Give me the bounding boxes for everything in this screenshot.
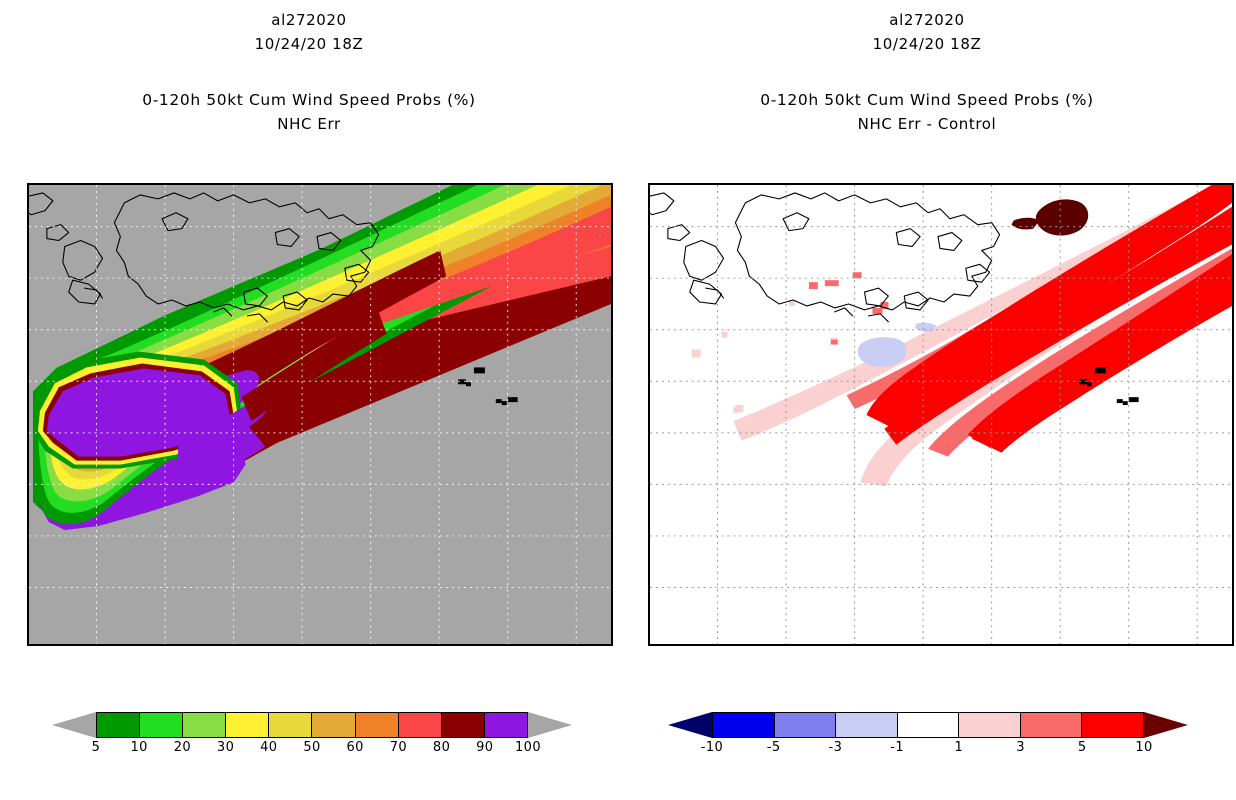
left-colorbar-cell-5 xyxy=(97,713,140,737)
panel-left: al272020 10/24/20 18Z 0-120h 50kt Cum Wi… xyxy=(0,0,618,800)
right-colorbar-cell-neg1 xyxy=(898,713,960,737)
left-colorbar-ticklabels: 5 10 20 30 40 50 60 70 80 90 100 xyxy=(96,740,528,760)
right-cb-tick-neg1: -1 xyxy=(890,740,904,755)
left-colorbar-cell-30 xyxy=(226,713,269,737)
left-colorbar-cell-20 xyxy=(183,713,226,737)
right-cb-tick-10: 10 xyxy=(1135,740,1152,755)
right-colorbar-over-arrow xyxy=(1144,712,1188,738)
left-cb-tick-90: 90 xyxy=(476,740,493,755)
left-cb-tick-20: 20 xyxy=(174,740,191,755)
left-source-label: NHC Err xyxy=(0,112,618,136)
right-colorbar-ticklabels: -10 -5 -3 -1 1 3 5 10 xyxy=(712,740,1144,760)
right-colorbar-cell-1 xyxy=(959,713,1021,737)
right-cb-tick-neg10: -10 xyxy=(701,740,723,755)
left-colorbar-under-arrow xyxy=(52,712,96,738)
left-cb-tick-100: 100 xyxy=(515,740,541,755)
left-cb-tick-50: 50 xyxy=(303,740,320,755)
right-cb-tick-neg3: -3 xyxy=(829,740,843,755)
left-product-title: 0-120h 50kt Cum Wind Speed Probs (%) xyxy=(0,88,618,112)
left-cb-tick-40: 40 xyxy=(260,740,277,755)
left-colorbar-bar xyxy=(52,712,572,738)
left-map-canvas xyxy=(29,185,611,644)
right-map-plot[interactable]: 48N 45N 42N 39N 36N 33N 30N 27N 24N 60W … xyxy=(648,183,1234,646)
left-colorbar-cell-60 xyxy=(356,713,399,737)
left-colorbar-cell-50 xyxy=(312,713,355,737)
left-datetime: 10/24/20 18Z xyxy=(0,32,618,56)
right-gridlines xyxy=(650,185,1232,644)
right-colorbar[interactable]: -10 -5 -3 -1 1 3 5 10 xyxy=(668,712,1188,772)
left-gridlines xyxy=(29,185,611,644)
right-colorbar-cells xyxy=(712,712,1144,738)
right-source-label: NHC Err - Control xyxy=(618,112,1236,136)
right-storm-id: al272020 xyxy=(618,8,1236,32)
right-cb-tick-1: 1 xyxy=(955,740,964,755)
left-cb-tick-5: 5 xyxy=(92,740,101,755)
left-colorbar-cell-70 xyxy=(399,713,442,737)
right-map-canvas xyxy=(650,185,1232,644)
right-cb-tick-3: 3 xyxy=(1016,740,1025,755)
right-colorbar-cell-neg3 xyxy=(836,713,898,737)
left-colorbar-cell-10 xyxy=(140,713,183,737)
left-cb-tick-10: 10 xyxy=(131,740,148,755)
left-cb-tick-80: 80 xyxy=(433,740,450,755)
panel-right: al272020 10/24/20 18Z 0-120h 50kt Cum Wi… xyxy=(618,0,1236,800)
left-colorbar-over-arrow xyxy=(528,712,572,738)
right-colorbar-cell-5 xyxy=(1082,713,1143,737)
left-map-plot[interactable]: 48N 45N 42N 39N 36N 33N 30N 27N 24N 60W … xyxy=(27,183,613,646)
left-colorbar-cell-40 xyxy=(269,713,312,737)
left-colorbar-cell-90 xyxy=(485,713,527,737)
right-datetime: 10/24/20 18Z xyxy=(618,32,1236,56)
left-cb-tick-70: 70 xyxy=(390,740,407,755)
left-cb-tick-30: 30 xyxy=(217,740,234,755)
right-colorbar-cell-neg5 xyxy=(775,713,837,737)
left-storm-id: al272020 xyxy=(0,8,618,32)
right-colorbar-cell-neg10 xyxy=(713,713,775,737)
left-colorbar[interactable]: 5 10 20 30 40 50 60 70 80 90 100 xyxy=(52,712,572,772)
right-cb-tick-neg5: -5 xyxy=(767,740,781,755)
left-cb-tick-60: 60 xyxy=(347,740,364,755)
left-colorbar-cells xyxy=(96,712,528,738)
right-colorbar-under-arrow xyxy=(668,712,712,738)
right-colorbar-bar xyxy=(668,712,1188,738)
right-colorbar-cell-3 xyxy=(1021,713,1083,737)
left-colorbar-cell-80 xyxy=(442,713,485,737)
right-cb-tick-5: 5 xyxy=(1078,740,1087,755)
right-product-title: 0-120h 50kt Cum Wind Speed Probs (%) xyxy=(618,88,1236,112)
